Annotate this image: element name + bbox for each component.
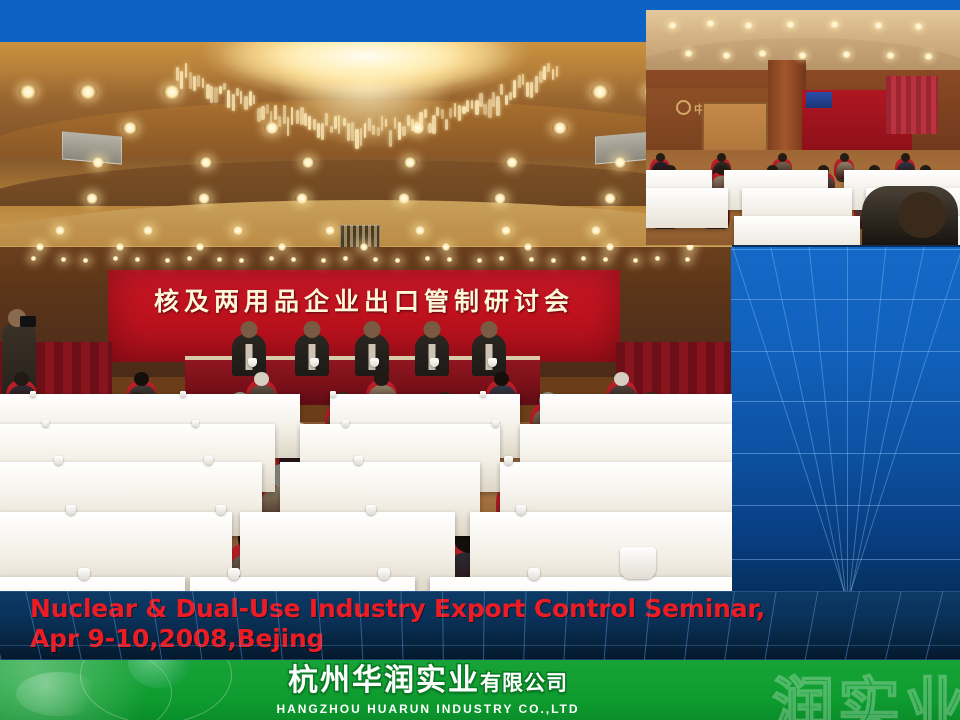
chandelier-crystal: [372, 125, 375, 135]
ceiling-rim-light: [342, 256, 349, 261]
chandelier-crystal: [347, 123, 350, 141]
panelist-figure: [415, 334, 449, 376]
ceiling-downlight: [277, 243, 287, 251]
chandelier-crystal: [381, 116, 383, 131]
audience-table: [0, 577, 185, 591]
chandelier-crystal: [483, 104, 487, 115]
table-cup: [228, 568, 240, 580]
chandelier-crystal: [488, 99, 492, 118]
ceiling-rim-light: [320, 258, 327, 263]
head-table-cup: [248, 358, 257, 367]
table-cup: [516, 505, 526, 515]
ceiling-rim-light: [498, 256, 505, 261]
chandelier-crystal: [185, 63, 188, 78]
tr-downlight: [668, 22, 677, 29]
ceiling-downlight: [115, 243, 125, 251]
chandelier-crystal: [466, 100, 469, 112]
ceiling-rim-light: [446, 257, 453, 262]
chandelier-crystal: [214, 87, 217, 103]
caption-grid-latitude: [0, 591, 960, 592]
caption-line-2: Apr 9-10,2008,Bejing: [30, 624, 930, 654]
ceiling-downlight: [359, 243, 369, 251]
ceiling-downlight: [403, 157, 417, 168]
ceiling-downlight: [493, 193, 507, 204]
chandelier-crystal: [355, 129, 359, 149]
chandelier-crystal: [351, 122, 354, 141]
ceiling-downlight: [163, 85, 181, 99]
chandelier-crystal: [454, 103, 457, 117]
chandelier-crystal: [202, 78, 204, 88]
chandelier-crystal: [304, 113, 307, 126]
tr-head: [840, 153, 849, 162]
tr-foreground-head: [898, 192, 946, 238]
tr-downlight: [786, 21, 795, 28]
slide-root: 核及两用品企业出口管制研讨会 华润实业 中邦 Nuclear & Dual-Us…: [0, 0, 960, 720]
chandelier-crystal: [385, 119, 387, 127]
ceiling-rim-light: [164, 258, 171, 263]
chandelier-crystal: [505, 95, 508, 105]
chandelier-crystal: [552, 69, 554, 80]
chandelier-crystal: [176, 67, 179, 81]
chandelier-crystal: [321, 123, 324, 140]
ceiling-downlight: [523, 243, 533, 251]
table-cup: [192, 420, 199, 427]
tr-downlight: [914, 23, 923, 30]
footer-watermark-text: 润实业: [772, 660, 960, 720]
audience-head: [374, 372, 389, 386]
table-cup: [54, 456, 63, 465]
ceiling-downlight: [591, 85, 609, 99]
head-table-cup: [310, 358, 319, 367]
panelist-figure: [232, 334, 266, 376]
chandelier-crystal: [253, 95, 255, 104]
chandelier-crystal: [458, 105, 461, 121]
chandelier-crystal: [291, 107, 293, 125]
ceiling-rim-light: [602, 257, 609, 262]
chandelier-crystal: [219, 86, 222, 94]
chandelier-crystal: [330, 126, 333, 133]
chandelier-crystal: [343, 118, 346, 126]
tr-head: [656, 153, 665, 162]
panelist-figure: [472, 334, 506, 376]
tr-table: [734, 216, 860, 245]
tr-downlight: [924, 53, 933, 60]
ceiling-rim-light: [684, 257, 691, 262]
ceiling-downlight: [295, 193, 309, 204]
chandelier-crystal: [193, 76, 196, 91]
ceiling-rim-light: [424, 256, 431, 261]
tr-downlight: [722, 52, 731, 59]
ceiling-rim-light: [216, 257, 223, 262]
audience-head: [494, 372, 509, 386]
ceiling-rim-light: [60, 257, 67, 262]
tr-window-curtain: [886, 76, 938, 134]
footer-green-banner: 润实业 杭州华润实业有限公司 HANGZHOU HUARUN INDUSTRY …: [0, 660, 960, 720]
ceiling-rim-light: [476, 258, 483, 263]
table-cup: [216, 505, 226, 515]
chandelier-crystal: [492, 92, 496, 107]
tr-column: [768, 60, 806, 160]
ceiling-rim-light: [30, 256, 37, 261]
chandelier-crystal: [313, 119, 317, 130]
chandelier-crystal: [424, 109, 428, 118]
ceiling-rim-light: [82, 258, 89, 263]
table-cup: [204, 456, 213, 465]
ceiling-downlight: [91, 157, 105, 168]
ceiling-rim-light: [186, 256, 193, 261]
chandelier-crystal: [556, 66, 558, 77]
ceiling-downlight: [613, 157, 627, 168]
ceiling-rim-light: [550, 258, 557, 263]
ceiling-rim-light: [654, 256, 661, 261]
chandelier-crystal: [283, 105, 286, 124]
chandelier-crystal: [206, 84, 210, 99]
tr-downlight: [874, 22, 883, 29]
chandelier-crystal: [364, 123, 366, 138]
chandelier-crystal: [436, 107, 438, 116]
tr-downlight: [744, 22, 753, 29]
chandelier-crystal: [197, 75, 200, 87]
table-cup: [42, 420, 49, 427]
ceiling-downlight: [397, 193, 411, 204]
chandelier-crystal: [236, 88, 240, 96]
ceiling-rim-light: [290, 257, 297, 262]
panel-grid-latitude: [731, 453, 960, 454]
head-table-cup: [430, 358, 439, 367]
chandelier-crystal: [398, 122, 401, 140]
chandelier-crystal: [227, 90, 230, 108]
table-cup: [66, 505, 76, 515]
chandelier-crystal: [432, 115, 435, 134]
stage-banner-text: 核及两用品企业出口管制研讨会: [108, 282, 620, 318]
chandelier-crystal: [441, 109, 444, 119]
ceiling-downlight: [79, 85, 97, 99]
tr-downlight: [706, 20, 715, 27]
ceiling-downlight: [605, 243, 615, 251]
chandelier-crystal: [223, 83, 226, 90]
panel-grid-latitude: [731, 249, 960, 250]
panel-grid-latitude: [731, 559, 960, 560]
ceiling-rim-light: [580, 256, 587, 261]
top-blue-strip: [0, 0, 660, 44]
ceiling-downlight: [195, 243, 205, 251]
chandelier-crystal: [180, 71, 183, 89]
chandelier-crystal: [266, 104, 270, 114]
chandelier-crystal: [368, 118, 371, 131]
chandelier-crystal: [407, 115, 411, 126]
chandelier-crystal: [496, 96, 499, 116]
table-cup: [354, 456, 363, 465]
chandelier-crystal: [513, 80, 516, 98]
tr-head: [901, 153, 910, 162]
tr-downlight: [842, 51, 851, 58]
footer-brand-english: HANGZHOU HUARUN INDUSTRY CO.,LTD: [198, 702, 658, 716]
ceiling-downlight: [301, 157, 315, 168]
chandelier-crystal: [509, 92, 512, 100]
chandelier-crystal: [189, 72, 192, 89]
chandelier-crystal: [547, 63, 549, 72]
tr-downlight: [758, 50, 767, 57]
table-cup: [180, 391, 186, 397]
ceiling-downlight: [199, 157, 213, 168]
ceiling-rim-light: [528, 257, 535, 262]
foreground-cup: [620, 547, 656, 579]
ceiling-rim-light: [238, 258, 245, 263]
table-cup: [492, 420, 499, 427]
chandelier-crystal: [402, 126, 406, 136]
panel-grid-latitude: [731, 505, 960, 506]
footer-brand-cn-suffix: 有限公司: [480, 671, 568, 695]
head-table-cup: [488, 358, 497, 367]
panelist-figure: [355, 334, 389, 376]
panel-grid-longitude: [847, 247, 848, 591]
tr-downlight: [886, 52, 895, 59]
chandelier-crystal: [210, 86, 213, 103]
panel-grid-latitude: [731, 299, 960, 300]
ceiling-downlight: [19, 85, 37, 99]
ceiling-downlight: [603, 193, 617, 204]
ceiling-rim-light: [394, 258, 401, 263]
chandelier-crystal: [471, 100, 474, 109]
tr-downlight: [830, 21, 839, 28]
caption-line-1: Nuclear & Dual-Use Industry Export Contr…: [30, 594, 765, 623]
table-cup: [480, 391, 486, 397]
panel-grid-latitude: [731, 401, 960, 402]
tr-head: [717, 153, 726, 162]
ceiling-rim-light: [134, 257, 141, 262]
ceiling-rim-light: [112, 256, 119, 261]
ceiling-rim-light: [268, 256, 275, 261]
chandelier-crystal: [308, 116, 310, 130]
chandelier-crystal: [526, 82, 529, 97]
audience-table: [430, 577, 732, 591]
footer-brand-chinese: 杭州华润实业有限公司: [198, 663, 658, 701]
tr-table: [646, 188, 728, 228]
panelist-figure: [295, 334, 329, 376]
caption-band: Nuclear & Dual-Use Industry Export Contr…: [0, 591, 960, 660]
head-table-cup: [370, 358, 379, 367]
chandelier-crystal: [518, 75, 522, 88]
chandelier-crystal: [535, 76, 538, 93]
chandelier-crystal: [338, 115, 340, 134]
chandelier-crystal: [360, 128, 363, 146]
chandelier-crystal: [334, 116, 337, 129]
chandelier-crystal: [257, 108, 261, 122]
chandelier-crystal: [449, 108, 452, 118]
ceiling-downlight: [441, 243, 451, 251]
caption-grid-longitude: [0, 591, 4, 660]
main-conference-photo: 核及两用品企业出口管制研讨会 华润实业: [0, 42, 732, 591]
ceiling-downlight: [197, 193, 211, 204]
footer-brand-block: 杭州华润实业有限公司 HANGZHOU HUARUN INDUSTRY CO.,…: [198, 663, 658, 716]
chandelier-crystal: [394, 117, 396, 129]
chandelier-crystal: [530, 82, 533, 98]
ceiling-rim-light: [632, 258, 639, 263]
chandelier-crystal: [296, 110, 300, 124]
tr-downlight: [798, 52, 807, 59]
ceiling-downlight: [85, 193, 99, 204]
chandelier-crystal: [377, 127, 381, 136]
chandelier-crystal: [244, 96, 248, 110]
footer-brand-cn-main: 杭州华润实业: [288, 663, 480, 698]
ceiling-rim-light: [372, 257, 379, 262]
tr-head: [778, 153, 787, 162]
ceiling-downlight: [35, 243, 45, 251]
table-cup: [528, 568, 540, 580]
caption-grid-latitude: [0, 645, 960, 646]
table-cup: [504, 456, 513, 465]
tr-projector-screen: [806, 92, 832, 108]
wall-logo-ring-icon: [676, 100, 691, 115]
chandelier-crystal: [287, 117, 289, 136]
chandelier-crystal: [539, 71, 543, 83]
chandelier-crystal: [249, 91, 253, 106]
chandelier-crystal: [317, 123, 320, 138]
top-right-attendees-photo: 中邦: [646, 10, 960, 245]
audience-head: [14, 372, 29, 386]
table-cup: [378, 568, 390, 580]
audience-head: [614, 372, 629, 386]
chandelier-crystal: [240, 91, 242, 104]
chandelier-crystal: [522, 74, 525, 85]
chandelier-crystal: [261, 106, 265, 120]
table-cup: [78, 568, 90, 580]
table-cup: [330, 391, 336, 397]
blue-globe-grid-panel: [731, 247, 960, 591]
chandelier-crystal: [500, 84, 503, 95]
chandelier-crystal: [389, 130, 392, 147]
audience-head: [254, 372, 269, 386]
audience-head: [134, 372, 149, 386]
table-cup: [342, 420, 349, 427]
table-cup: [366, 505, 376, 515]
chandelier-crystal: [325, 113, 327, 126]
chandelier-crystal: [232, 94, 236, 111]
tr-downlight: [684, 50, 693, 57]
chandelier-crystal: [445, 119, 448, 130]
ceiling-downlight: [505, 157, 519, 168]
chandelier-crystal: [274, 105, 277, 120]
table-cup: [30, 391, 36, 397]
chandelier-crystal: [543, 66, 546, 80]
